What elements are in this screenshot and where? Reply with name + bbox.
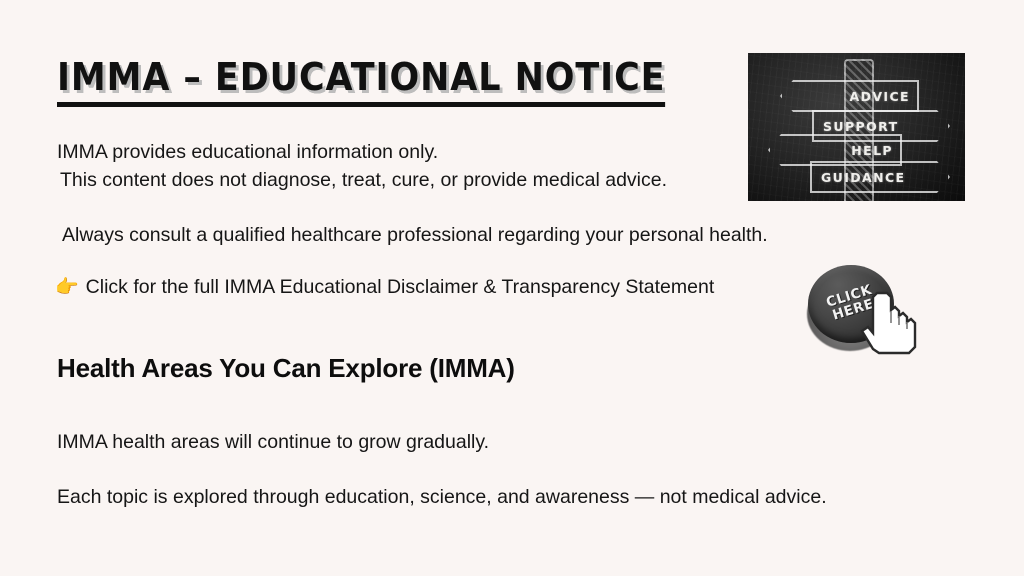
slide-canvas: IMMA – EDUCATIONAL NOTICE IMMA provides …: [0, 0, 1024, 576]
page-title: IMMA – EDUCATIONAL NOTICE: [57, 58, 665, 107]
hand-pointer-cursor-icon: [859, 289, 935, 357]
paragraph-not-medical-advice: This content does not diagnose, treat, c…: [60, 167, 667, 195]
signpost-sign-help-label: HELP: [851, 143, 893, 158]
signpost-sign-support-label: SUPPORT: [823, 119, 899, 134]
signpost-sign-guidance: GUIDANCE: [810, 161, 950, 193]
signpost-image: ADVICE SUPPORT HELP GUIDANCE: [748, 53, 965, 201]
page-title-container: IMMA – EDUCATIONAL NOTICE: [57, 58, 718, 107]
section-heading-health-areas: Health Areas You Can Explore (IMMA): [57, 353, 515, 384]
paragraph-health-areas-growth: IMMA health areas will continue to grow …: [57, 429, 489, 457]
paragraph-consult-professional: Always consult a qualified healthcare pr…: [62, 222, 768, 250]
click-here-button-graphic[interactable]: CLICK HERE: [803, 261, 943, 359]
paragraph-topic-exploration: Each topic is explored through education…: [57, 484, 827, 512]
pointing-right-hand-icon: 👉: [55, 278, 79, 297]
disclaimer-link[interactable]: 👉 Click for the full IMMA Educational Di…: [55, 276, 714, 299]
signpost-sign-guidance-label: GUIDANCE: [821, 170, 906, 185]
signpost-sign-advice: ADVICE: [780, 80, 919, 112]
disclaimer-link-label[interactable]: Click for the full IMMA Educational Disc…: [86, 276, 715, 299]
paragraph-educational-info: IMMA provides educational information on…: [57, 139, 438, 167]
signpost-sign-advice-label: ADVICE: [850, 89, 911, 104]
